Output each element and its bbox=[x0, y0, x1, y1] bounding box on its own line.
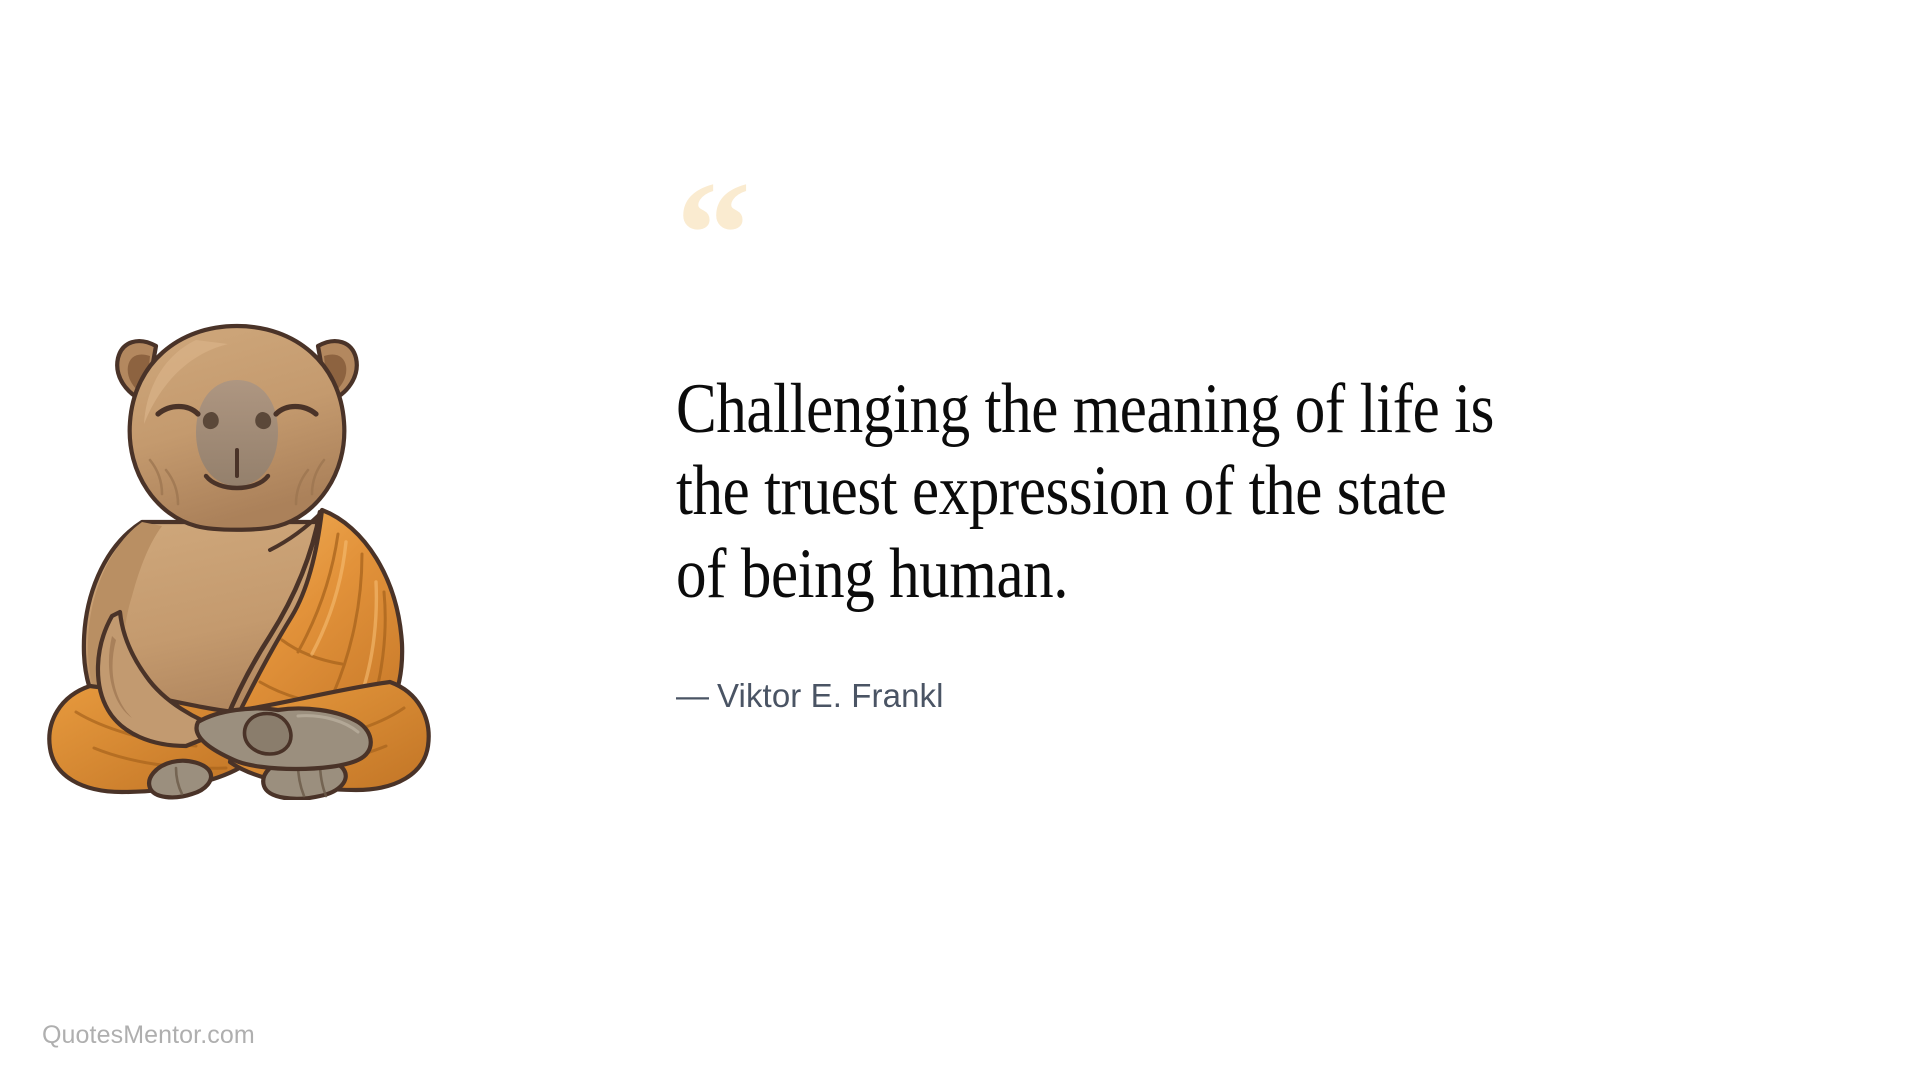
quote-line: Challenging the meaning of life is bbox=[676, 368, 1803, 450]
attribution-dash: — bbox=[676, 677, 711, 714]
watermark: QuotesMentor.com bbox=[42, 1021, 255, 1050]
capybara-paw-thumb bbox=[245, 714, 291, 755]
quote-attribution: —Viktor E. Frankl bbox=[676, 677, 1826, 715]
opening-quote-mark: “ bbox=[676, 180, 1826, 272]
capybara-figure bbox=[49, 326, 428, 799]
capybara-illustration bbox=[46, 310, 431, 800]
quote-line: the truest expression of the state bbox=[676, 450, 1803, 532]
quote-text: Challenging the meaning of life is the t… bbox=[676, 368, 1803, 615]
attribution-author: Viktor E. Frankl bbox=[717, 677, 944, 714]
quote-block: “ Challenging the meaning of life is the… bbox=[676, 180, 1826, 715]
capybara-illustration-svg bbox=[46, 310, 431, 800]
quote-line: of being human. bbox=[676, 533, 1803, 615]
